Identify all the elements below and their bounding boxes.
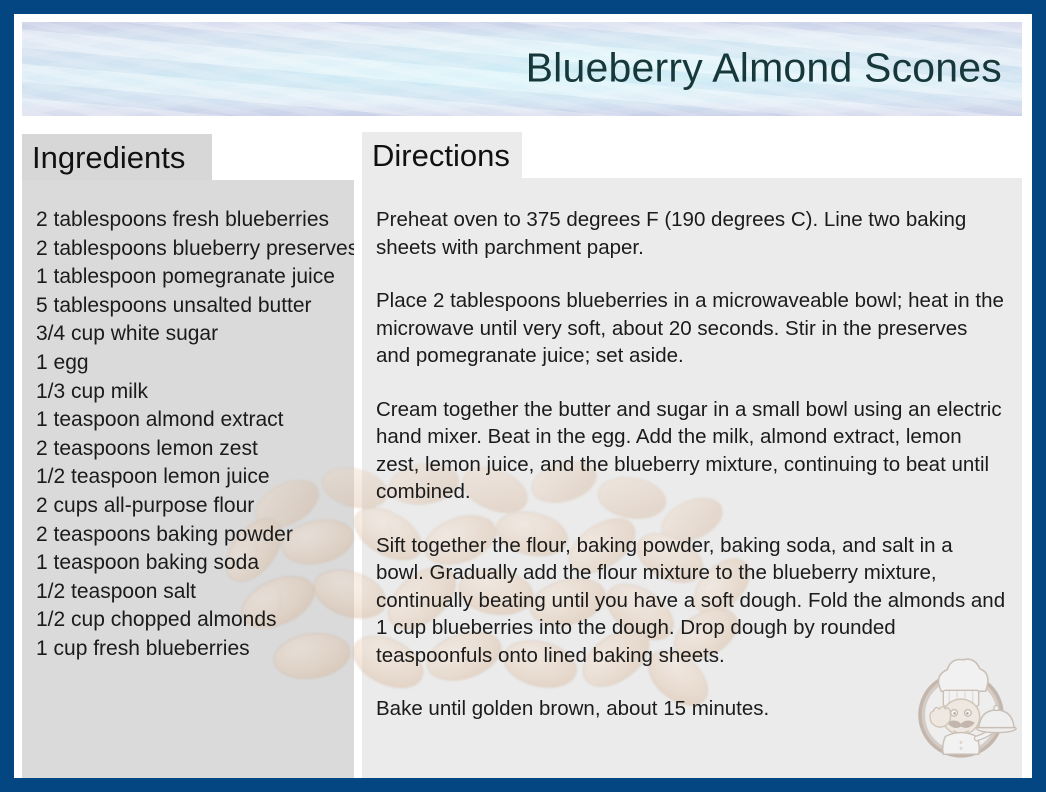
card-inner: Blueberry Almond Scones Ingredients Dire… <box>14 14 1032 778</box>
direction-step: Bake until golden brown, about 15 minute… <box>376 695 1006 723</box>
page-title: Blueberry Almond Scones <box>526 47 1002 90</box>
ingredient-item: 2 cups all-purpose flour <box>36 492 354 521</box>
ingredient-item: 2 teaspoons lemon zest <box>36 435 354 464</box>
recipe-card: Blueberry Almond Scones Ingredients Dire… <box>0 0 1046 792</box>
ingredient-item: 2 tablespoons fresh blueberries <box>36 206 354 235</box>
ingredient-item: 1 cup fresh blueberries <box>36 635 354 664</box>
direction-step: Cream together the butter and sugar in a… <box>376 396 1006 506</box>
ingredient-item: 1 egg <box>36 349 354 378</box>
ingredient-item: 2 tablespoons blueberry preserves <box>36 235 354 264</box>
ingredient-item: 3/4 cup white sugar <box>36 320 354 349</box>
ingredient-item: 1 teaspoon baking soda <box>36 549 354 578</box>
direction-step: Sift together the flour, baking powder, … <box>376 532 1006 670</box>
direction-step: Place 2 tablespoons blueberries in a mic… <box>376 287 1006 370</box>
ingredient-item: 1/2 teaspoon salt <box>36 578 354 607</box>
direction-step: Preheat oven to 375 degrees F (190 degre… <box>376 206 1006 261</box>
ingredient-item: 1 tablespoon pomegranate juice <box>36 263 354 292</box>
ingredients-list: 2 tablespoons fresh blueberries2 tablesp… <box>22 180 354 664</box>
ingredient-item: 1/2 cup chopped almonds <box>36 606 354 635</box>
tab-directions[interactable]: Directions <box>362 132 522 178</box>
ingredient-item: 1/3 cup milk <box>36 378 354 407</box>
tab-ingredients[interactable]: Ingredients <box>22 134 212 180</box>
ingredient-item: 1 teaspoon almond extract <box>36 406 354 435</box>
ingredient-item: 1/2 teaspoon lemon juice <box>36 463 354 492</box>
ingredient-item: 5 tablespoons unsalted butter <box>36 292 354 321</box>
directions-panel: Preheat oven to 375 degrees F (190 degre… <box>362 178 1022 787</box>
ingredients-panel: 2 tablespoons fresh blueberries2 tablesp… <box>22 180 354 787</box>
directions-body: Preheat oven to 375 degrees F (190 degre… <box>362 178 1022 723</box>
tab-directions-label: Directions <box>372 140 510 171</box>
title-banner: Blueberry Almond Scones <box>22 22 1022 116</box>
ingredient-item: 2 teaspoons baking powder <box>36 521 354 550</box>
tab-ingredients-label: Ingredients <box>32 142 185 173</box>
